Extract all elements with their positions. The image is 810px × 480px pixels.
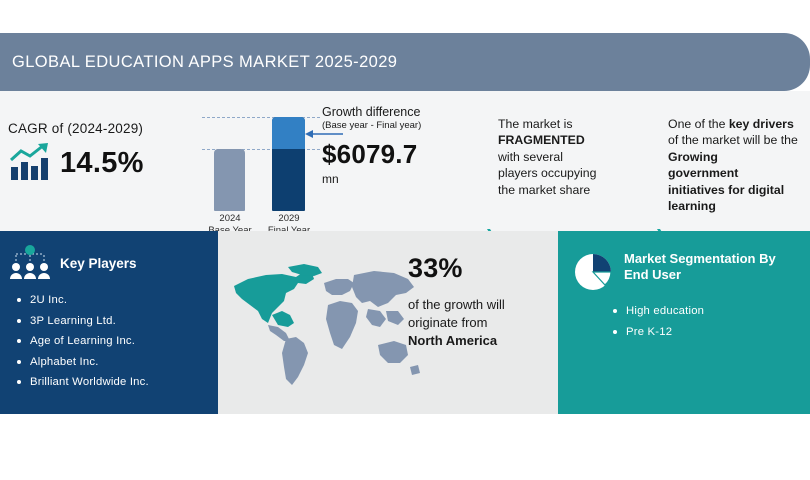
drivers-line-2: of the market will be the [668, 132, 810, 148]
region-percent: 33% [408, 253, 553, 284]
fragmentation-line-2: with several [498, 149, 643, 165]
footer: 21000+ Reports covering niche topics. Re… [0, 414, 810, 480]
list-item: Brilliant Worldwide Inc. [16, 372, 218, 393]
network-people-icon [8, 245, 53, 281]
drivers-bold-line-4: learning [668, 199, 716, 213]
pie-chart-icon [572, 251, 614, 293]
growth-difference-sublabel: (Base year - Final year) [322, 120, 452, 132]
fragmentation-bold: FRAGMENTED [498, 133, 585, 147]
cagr-block: CAGR of (2024-2029) 14.5% [8, 121, 198, 183]
list-item: 3P Learning Ltd. [16, 311, 218, 332]
growth-difference-block: Growth difference (Base year - Final yea… [322, 105, 452, 186]
fragmentation-line-1: The market is [498, 116, 643, 132]
bar-chart-growth-icon [8, 143, 54, 183]
key-players-panel: Key Players 2U Inc. 3P Learning Ltd. Age… [0, 231, 218, 414]
key-players-list: 2U Inc. 3P Learning Ltd. Age of Learning… [16, 290, 218, 393]
segmentation-title: Market Segmentation By End User [624, 251, 799, 283]
list-item: Age of Learning Inc. [16, 331, 218, 352]
page-title: GLOBAL EDUCATION APPS MARKET 2025-2029 [0, 53, 397, 72]
growth-difference-label: Growth difference [322, 105, 452, 119]
drivers-line-1-plain: One of the [668, 117, 729, 131]
growth-difference-unit: mn [322, 172, 452, 186]
list-item: Pre K-12 [612, 322, 810, 343]
bar-year-final: 2029 [260, 213, 318, 225]
cagr-value: 14.5% [60, 147, 144, 180]
drivers-bold-line-2: government [668, 166, 738, 180]
market-segmentation-panel: Market Segmentation By End User High edu… [558, 231, 810, 414]
list-item: 2U Inc. [16, 290, 218, 311]
key-drivers-block: One of the key drivers of the market wil… [668, 116, 810, 214]
bar-growth-segment [272, 117, 305, 149]
header-band: GLOBAL EDUCATION APPS MARKET 2025-2029 [0, 33, 810, 91]
drivers-line-1: One of the key drivers [668, 116, 810, 132]
region-line-1: of the growth will [408, 296, 553, 314]
region-growth-block: 33% of the growth will originate from No… [408, 253, 553, 350]
infographic-canvas: GLOBAL EDUCATION APPS MARKET 2025-2029 C… [0, 0, 810, 480]
world-map-icon [228, 253, 428, 393]
middle-row: Key Players 2U Inc. 3P Learning Ltd. Age… [0, 231, 810, 414]
bar-base-year [214, 149, 245, 211]
drivers-bold-line-1: Growing [668, 150, 718, 164]
segmentation-header: Market Segmentation By End User [558, 231, 810, 293]
region-description: of the growth will originate from North … [408, 296, 553, 350]
list-item: High education [612, 301, 810, 322]
key-players-header: Key Players [0, 231, 218, 281]
fragmentation-block: The market is FRAGMENTED with several pl… [498, 116, 643, 198]
fragmentation-line-3: players occupying [498, 165, 643, 181]
segmentation-list: High education Pre K-12 [612, 301, 810, 343]
drivers-bold-line-3: initiatives for digital [668, 183, 784, 197]
region-line-2: originate from [408, 314, 553, 332]
list-item: Alphabet Inc. [16, 352, 218, 373]
cagr-label: CAGR of (2024-2029) [8, 121, 198, 136]
region-name: North America [408, 333, 497, 348]
drivers-line-1-bold: key drivers [729, 117, 794, 131]
key-players-title: Key Players [60, 256, 137, 271]
top-stats-row: CAGR of (2024-2029) 14.5% [0, 91, 810, 231]
fragmentation-line-4: the market share [498, 182, 643, 198]
growth-difference-value: $6079.7 [322, 139, 452, 170]
bar-year-base: 2024 [202, 213, 258, 225]
